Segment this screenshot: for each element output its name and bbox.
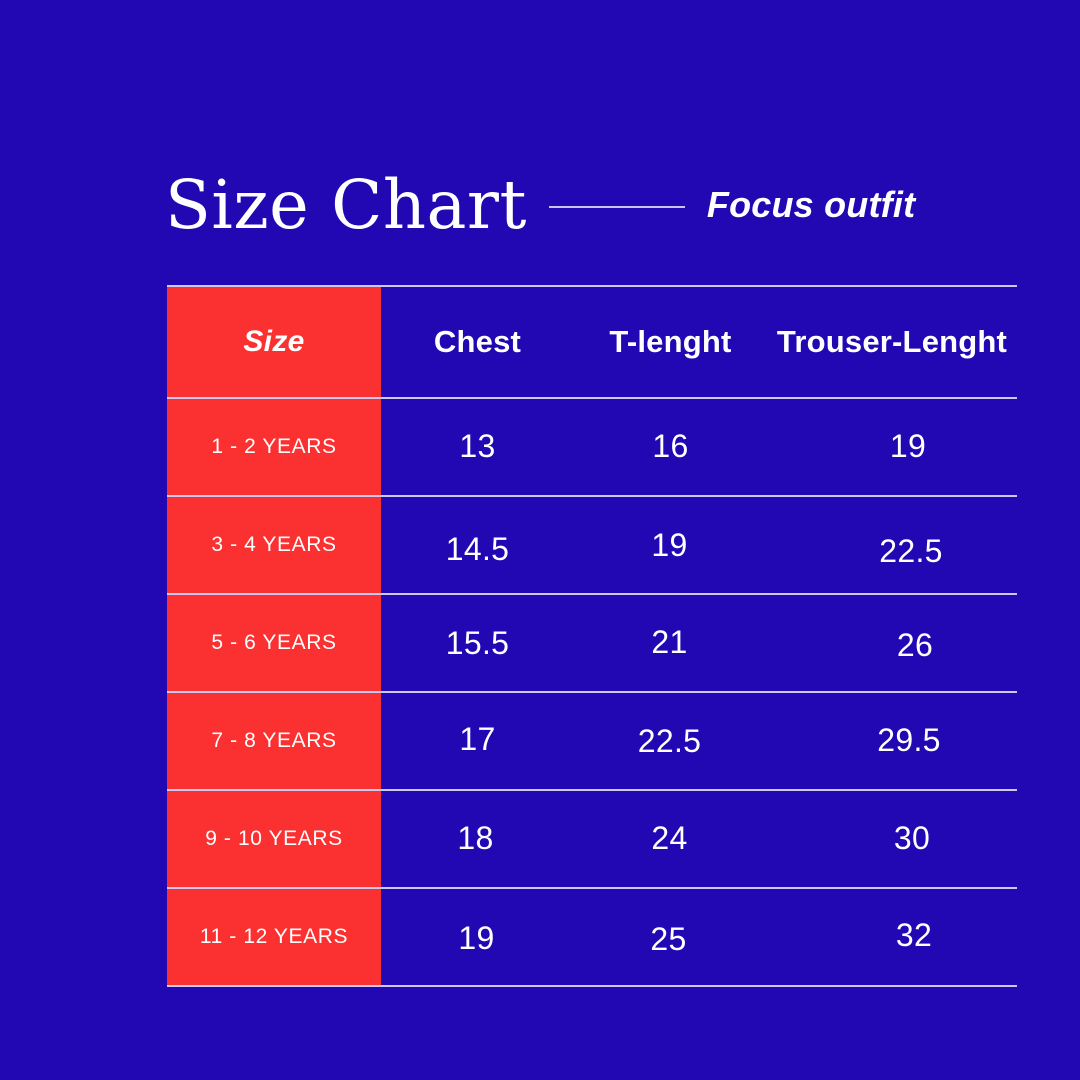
table-row: 7 - 8 YEARS 17 22.5 29.5	[167, 691, 1017, 789]
table-row: 9 - 10 YEARS 18 24 30	[167, 789, 1017, 887]
cell-trouser-length: 26	[790, 597, 1040, 693]
table-row: 3 - 4 YEARS 14.5 19 22.5	[167, 495, 1017, 593]
page-title: Size Chart	[165, 172, 527, 239]
cell-trouser-length: 30	[787, 790, 1037, 886]
cell-size: 7 - 8 YEARS	[167, 693, 381, 789]
cell-size: 9 - 10 YEARS	[167, 791, 381, 887]
cell-t-length: 22.5	[573, 693, 766, 789]
table-row: 5 - 6 YEARS 15.5 21 26	[167, 593, 1017, 691]
cell-t-length: 25	[572, 891, 765, 987]
column-header-t-length: T-lenght	[574, 287, 767, 397]
cell-chest: 19	[380, 890, 573, 986]
cell-size: 3 - 4 YEARS	[167, 497, 381, 593]
table-row: 1 - 2 YEARS 13 16 19	[167, 397, 1017, 495]
size-chart-page: Size Chart Focus outfit Size Chest T-len…	[0, 0, 1080, 1080]
cell-t-length: 16	[574, 398, 767, 494]
cell-size: 11 - 12 YEARS	[167, 889, 381, 985]
cell-t-length: 21	[573, 594, 766, 690]
cell-trouser-length: 22.5	[786, 503, 1036, 599]
cell-t-length: 19	[573, 497, 766, 593]
cell-size: 5 - 6 YEARS	[167, 595, 381, 691]
cell-chest: 14.5	[381, 501, 574, 597]
column-header-size: Size	[167, 287, 381, 397]
cell-trouser-length: 32	[789, 887, 1039, 983]
column-header-trouser-length: Trouser-Lenght	[767, 287, 1017, 397]
column-header-chest: Chest	[381, 287, 574, 397]
brand-subtitle: Focus outfit	[707, 184, 915, 226]
table-header-row: Size Chest T-lenght Trouser-Lenght	[167, 287, 1017, 397]
table-row: 11 - 12 YEARS 19 25 32	[167, 887, 1017, 985]
cell-chest: 13	[381, 398, 574, 494]
cell-chest: 18	[379, 790, 572, 886]
title-divider-rule	[549, 206, 685, 208]
cell-chest: 15.5	[381, 595, 574, 691]
cell-trouser-length: 19	[783, 398, 1033, 494]
size-chart-table: Size Chest T-lenght Trouser-Lenght 1 - 2…	[167, 285, 1017, 987]
cell-size: 1 - 2 YEARS	[167, 399, 381, 495]
cell-t-length: 24	[573, 790, 766, 886]
cell-trouser-length: 29.5	[784, 692, 1034, 788]
page-header: Size Chart Focus outfit	[165, 160, 1020, 250]
cell-chest: 17	[381, 691, 574, 787]
